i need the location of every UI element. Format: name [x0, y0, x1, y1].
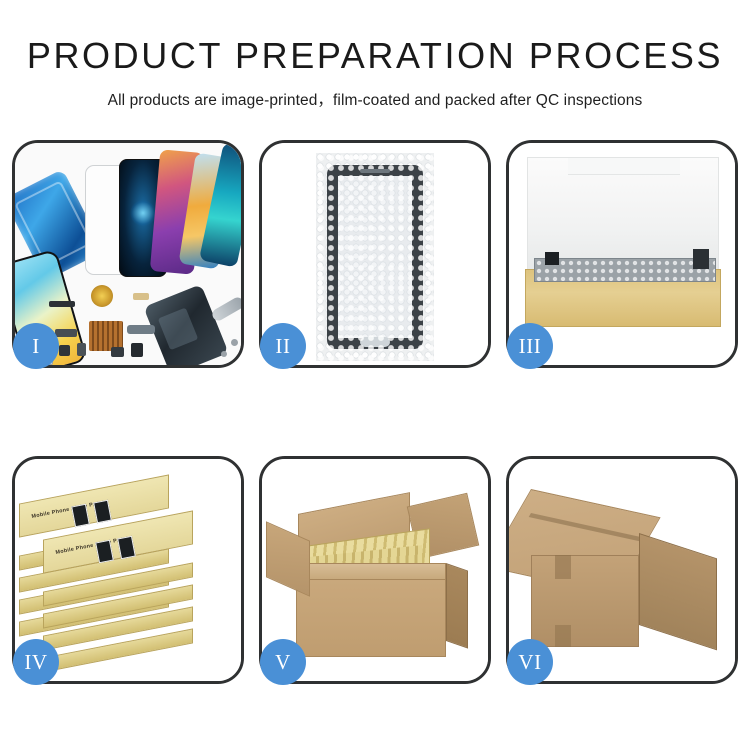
process-step-6: VI	[506, 456, 738, 684]
earpiece-slot	[360, 169, 390, 173]
process-step-3: III	[506, 140, 738, 368]
screen-label-patch	[545, 252, 559, 265]
step-badge-4: IV	[13, 639, 59, 685]
kraft-box-tray	[525, 269, 721, 327]
step-badge-2: II	[260, 323, 306, 369]
flex-bar-part	[49, 301, 75, 307]
process-step-grid: I II III	[12, 140, 738, 696]
process-step-1: I	[12, 140, 244, 368]
bubble-wrap-sheet	[316, 153, 434, 361]
ribbon-cable-part	[210, 295, 241, 322]
wrapped-screen-in-tray	[534, 258, 716, 282]
carton-front-face	[296, 579, 446, 657]
sealed-carton-front	[531, 555, 639, 647]
process-step-5: V	[259, 456, 491, 684]
process-step-2: II	[259, 140, 491, 368]
chip-part-2	[77, 343, 86, 356]
screw-part-2	[221, 351, 227, 357]
page-header: PRODUCT PREPARATION PROCESS All products…	[0, 0, 750, 110]
page-title: PRODUCT PREPARATION PROCESS	[0, 36, 750, 76]
flex-cable-part-1	[127, 325, 155, 334]
page-subtitle: All products are image-printed，film-coat…	[0, 88, 750, 110]
process-step-4: Mobile Phone Spare Parts Mobile Phone Sp…	[12, 456, 244, 684]
phone-glass-lens	[327, 165, 423, 349]
step-badge-5: V	[260, 639, 306, 685]
speaker-coil-part	[91, 285, 113, 307]
sealed-carton-side	[639, 533, 717, 650]
flex-cable-part-2	[55, 329, 77, 337]
gold-bracket-part	[133, 293, 149, 300]
step-badge-6: VI	[507, 639, 553, 685]
carton-tape-lower	[555, 625, 571, 647]
phone-back-housing	[143, 284, 228, 365]
step-badge-1: I	[13, 323, 59, 369]
chip-part-3	[111, 347, 124, 357]
chip-part-4	[131, 343, 143, 357]
step-badge-3: III	[507, 323, 553, 369]
chip-part-1	[59, 345, 70, 356]
screw-part-1	[231, 339, 238, 346]
carton-tape-upper	[555, 555, 571, 579]
screen-end-marker	[693, 249, 709, 269]
carton-right-face	[446, 563, 468, 649]
